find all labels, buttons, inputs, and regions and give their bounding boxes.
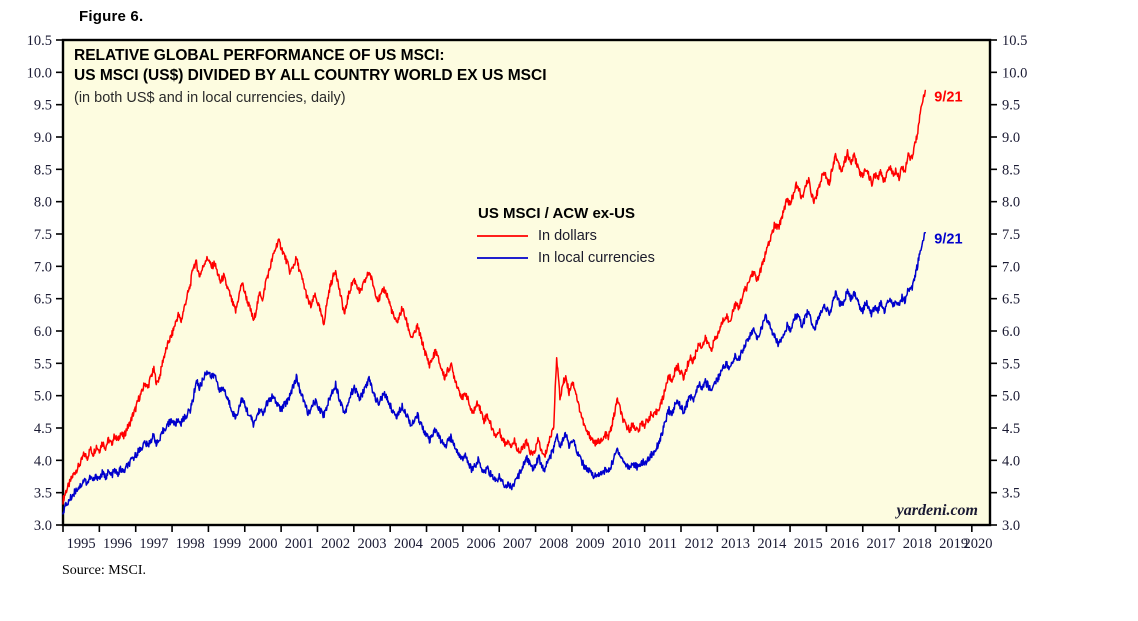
- x-axis-label: 2008: [539, 536, 568, 552]
- y-axis-label-left: 9.5: [34, 98, 52, 114]
- x-axis-label: 2004: [394, 536, 424, 552]
- x-axis-label: 1998: [176, 536, 205, 552]
- x-axis-label: 2015: [794, 536, 823, 552]
- y-axis-label-right: 8.0: [1002, 195, 1020, 211]
- x-axis-label: 2000: [248, 536, 277, 552]
- x-axis-label: 2012: [685, 536, 714, 552]
- x-axis-label: 2014: [757, 536, 787, 552]
- y-axis-label-left: 3.5: [34, 486, 52, 502]
- y-axis-label-left: 7.0: [34, 259, 52, 275]
- x-axis-label: 2005: [430, 536, 459, 552]
- legend-label-in-local-currencies: In local currencies: [538, 250, 655, 266]
- y-axis-label-left: 8.5: [34, 162, 52, 178]
- x-axis-label: 2001: [285, 536, 314, 552]
- endpoint-label-in-local-currencies: 9/21: [934, 232, 962, 248]
- x-axis-label: 1997: [139, 536, 168, 552]
- y-axis-label-left: 8.0: [34, 195, 52, 211]
- y-axis-label-left: 3.0: [34, 518, 52, 534]
- relative-performance-chart: 10.510.510.010.09.59.59.09.08.58.58.08.0…: [0, 0, 1138, 621]
- y-axis-label-left: 5.5: [34, 356, 52, 372]
- y-axis-label-right: 9.0: [1002, 130, 1020, 146]
- y-axis-label-right: 7.5: [1002, 227, 1020, 243]
- chart-title-line2: US MSCI (US$) DIVIDED BY ALL COUNTRY WOR…: [74, 67, 547, 84]
- x-axis-label: 2002: [321, 536, 350, 552]
- plot-background: [63, 40, 990, 525]
- y-axis-label-left: 6.5: [34, 292, 52, 308]
- chart-subtitle: (in both US$ and in local currencies, da…: [74, 90, 346, 106]
- y-axis-label-left: 9.0: [34, 130, 52, 146]
- y-axis-label-left: 10.0: [27, 65, 52, 81]
- endpoint-label-in-dollars: 9/21: [934, 89, 962, 105]
- x-axis-label: 2009: [576, 536, 605, 552]
- chart-title-line1: RELATIVE GLOBAL PERFORMANCE OF US MSCI:: [74, 47, 445, 64]
- legend-title: US MSCI / ACW ex-US: [478, 205, 635, 222]
- x-axis-label: 2016: [830, 536, 859, 552]
- y-axis-label-left: 10.5: [27, 33, 52, 49]
- y-axis-label-right: 4.5: [1002, 421, 1020, 437]
- y-axis-label-right: 10.5: [1002, 33, 1027, 49]
- x-axis-label: 2010: [612, 536, 641, 552]
- y-axis-label-left: 6.0: [34, 324, 52, 340]
- y-axis-label-right: 5.0: [1002, 389, 1020, 405]
- y-axis-label-right: 7.0: [1002, 259, 1020, 275]
- chart-container: 10.510.510.010.09.59.59.09.08.58.58.08.0…: [0, 0, 1138, 621]
- y-axis-label-right: 9.5: [1002, 98, 1020, 114]
- watermark: yardeni.com: [895, 502, 978, 519]
- y-axis-label-right: 6.5: [1002, 292, 1020, 308]
- x-axis-label: 2006: [467, 536, 496, 552]
- y-axis-label-left: 4.5: [34, 421, 52, 437]
- x-axis-label: 2017: [866, 536, 895, 552]
- x-axis-label: 2003: [358, 536, 387, 552]
- y-axis-label-right: 3.0: [1002, 518, 1020, 534]
- y-axis-label-right: 8.5: [1002, 162, 1020, 178]
- y-axis-label-right: 6.0: [1002, 324, 1020, 340]
- source-note: Source: MSCI.: [62, 563, 146, 579]
- x-axis-label: 2007: [503, 536, 532, 552]
- y-axis-label-right: 5.5: [1002, 356, 1020, 372]
- y-axis-label-right: 3.5: [1002, 486, 1020, 502]
- y-axis-label-right: 10.0: [1002, 65, 1027, 81]
- x-axis-label: 2011: [649, 536, 677, 552]
- x-axis-label: 2018: [903, 536, 932, 552]
- y-axis-label-left: 7.5: [34, 227, 52, 243]
- x-axis-label: 2013: [721, 536, 750, 552]
- x-axis-label: 1996: [103, 536, 132, 552]
- y-axis-label-left: 5.0: [34, 389, 52, 405]
- x-axis-label: 2020: [964, 536, 993, 552]
- legend-label-in-dollars: In dollars: [538, 228, 597, 244]
- x-axis-label: 1995: [67, 536, 96, 552]
- y-axis-label-left: 4.0: [34, 453, 52, 469]
- y-axis-label-right: 4.0: [1002, 453, 1020, 469]
- x-axis-label: 1999: [212, 536, 241, 552]
